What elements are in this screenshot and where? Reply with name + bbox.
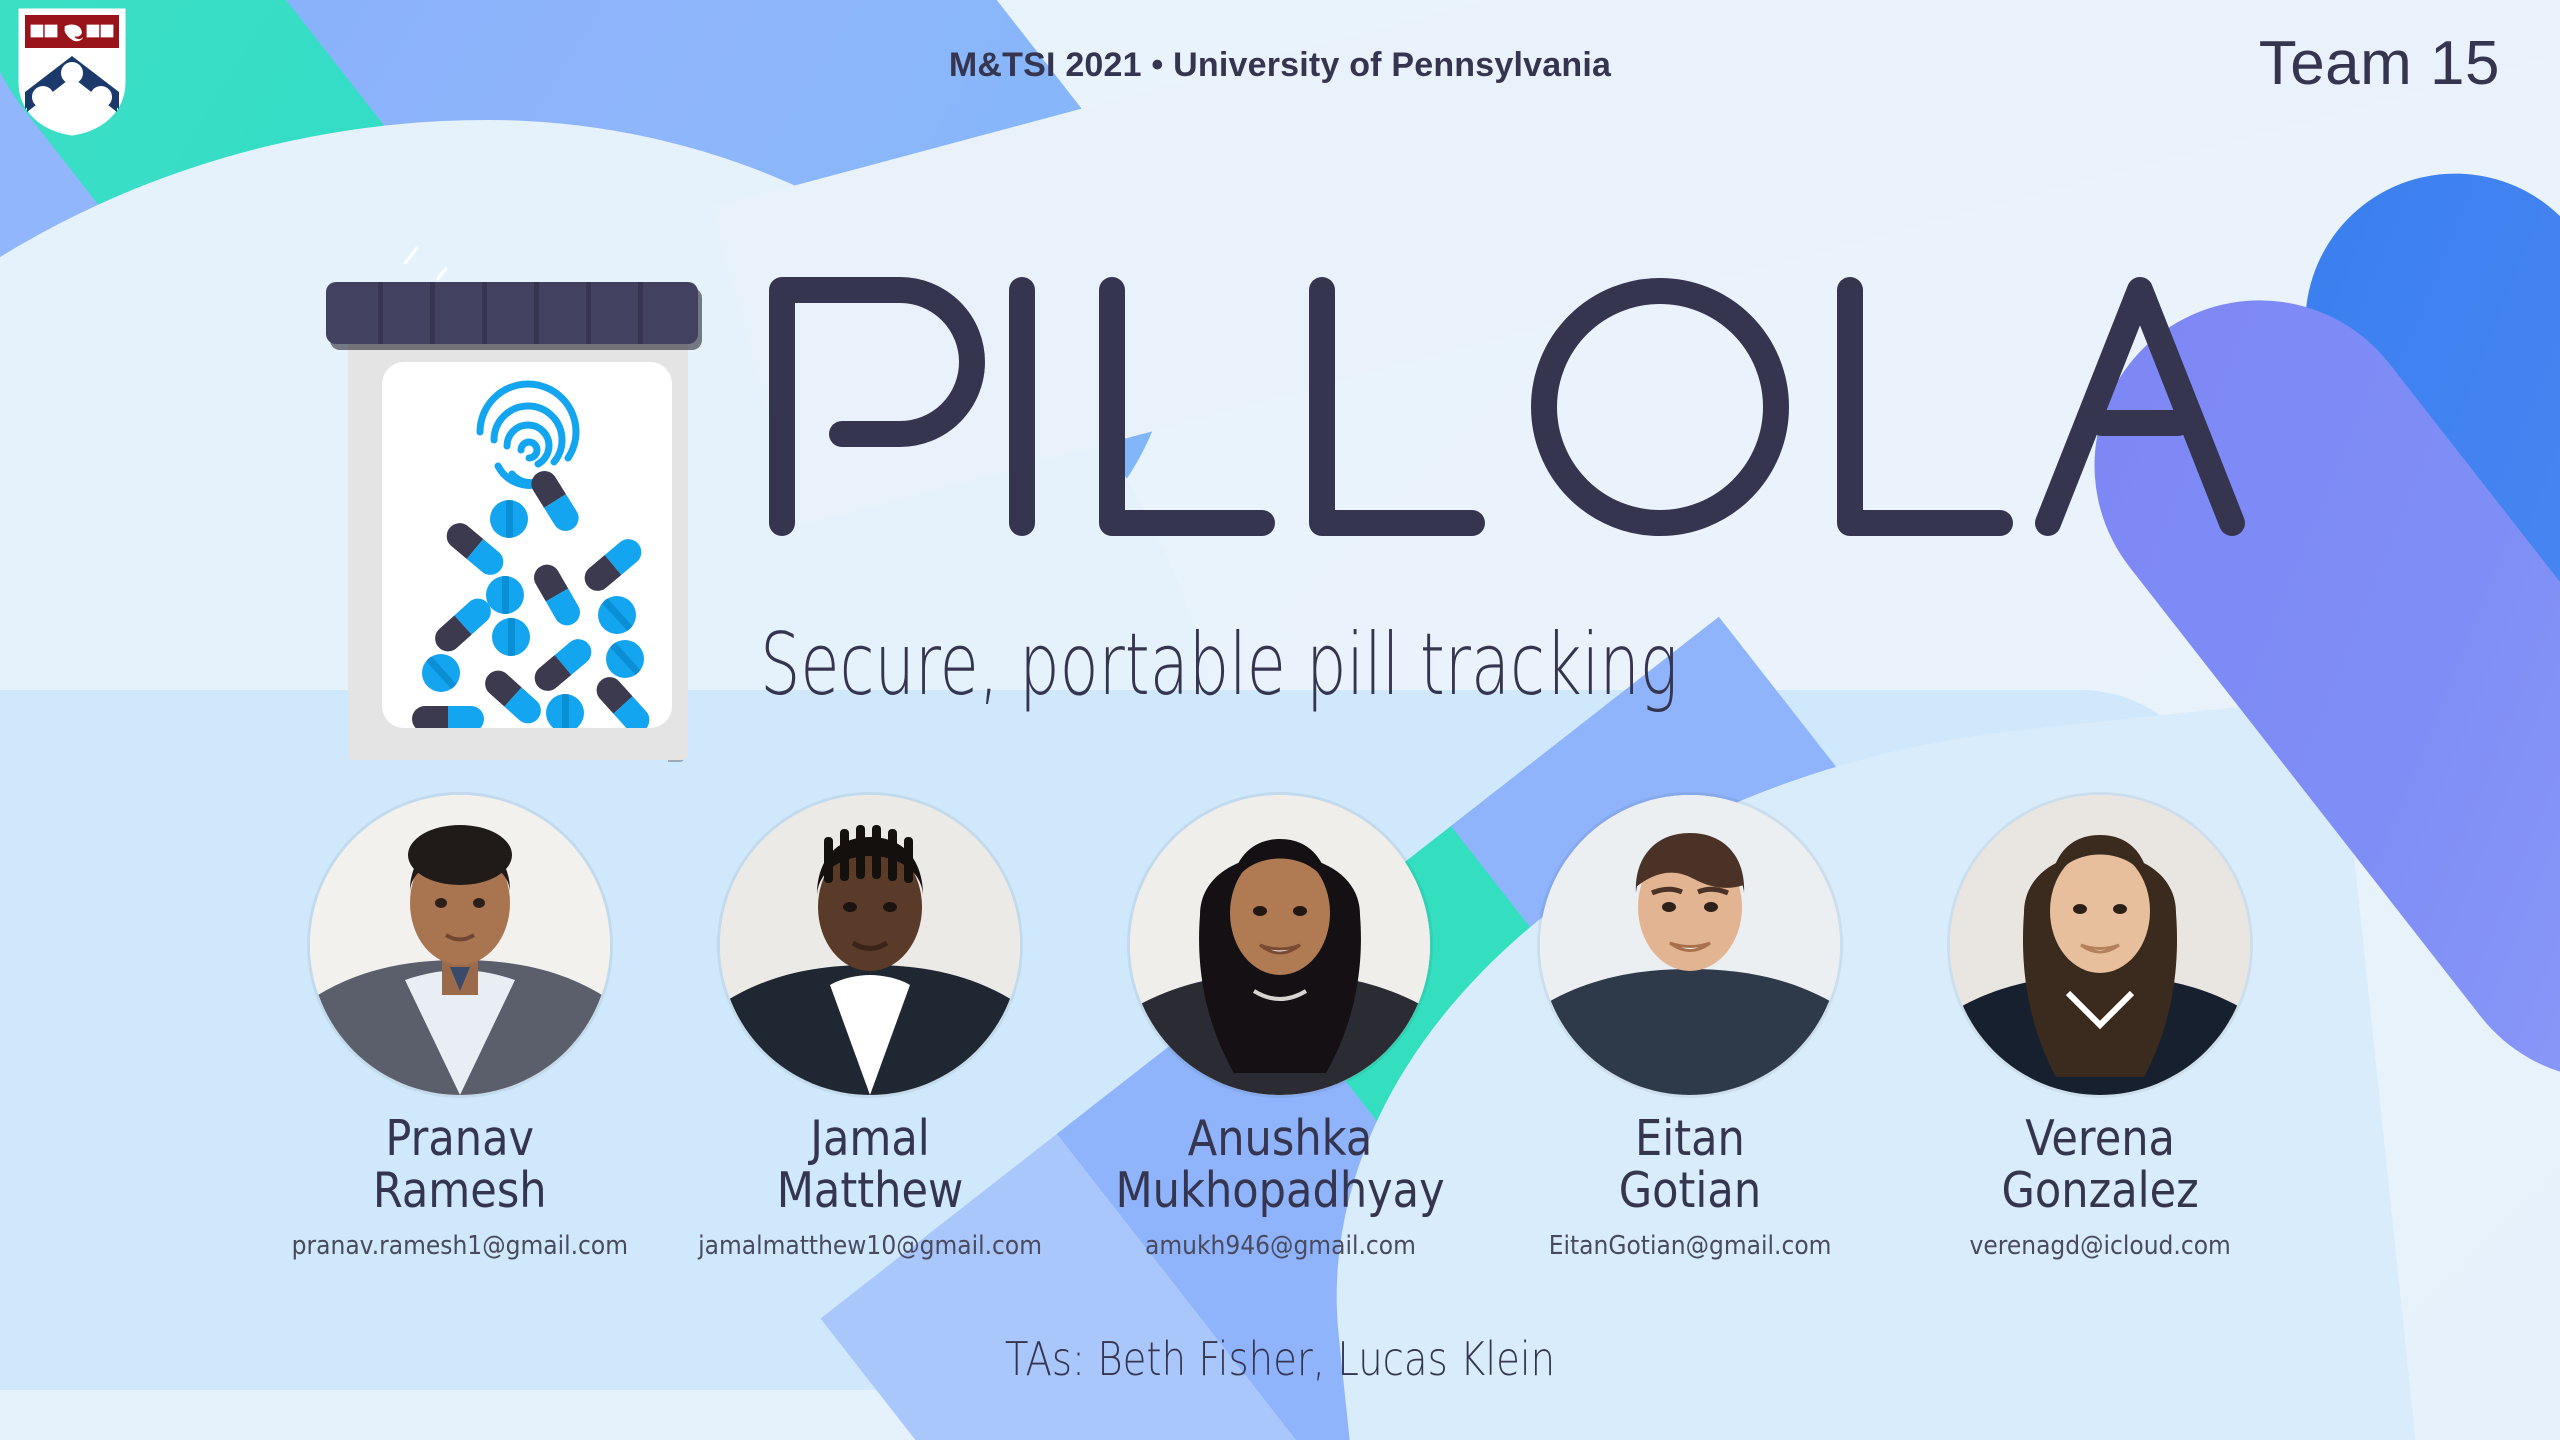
poster-canvas: M&TSI 2021 • University of Pennsylvania … — [0, 0, 2560, 1440]
pill-capsule — [430, 593, 496, 656]
member-name: Pranav Ramesh — [373, 1113, 547, 1217]
product-tagline: Secure, portable pill tracking — [760, 615, 1663, 715]
member-email: amukh946@gmail.com — [1145, 1231, 1416, 1261]
member-name: Verena Gonzalez — [2001, 1113, 2198, 1217]
member-email: EitanGotian@gmail.com — [1549, 1231, 1832, 1261]
pill-capsule — [412, 706, 484, 728]
conference-title: M&TSI 2021 • University of Pennsylvania — [0, 46, 2560, 85]
team-member: Pranav Ramesh pranav.ramesh1@gmail.com — [285, 795, 635, 1261]
member-email: pranav.ramesh1@gmail.com — [292, 1231, 628, 1261]
pill-tablet — [598, 596, 636, 634]
member-name: Anushka Mukhopadhyay — [1115, 1113, 1444, 1217]
team-member: Anushka Mukhopadhyay amukh946@gmail.com — [1105, 795, 1455, 1261]
team-member: Jamal Matthew jamalmatthew10@gmail.com — [695, 795, 1045, 1261]
avatar-verena-gonzalez — [1950, 795, 2250, 1095]
team-member: Eitan Gotian EitanGotian@gmail.com — [1515, 795, 1865, 1261]
bottle-body — [348, 340, 688, 760]
pill-capsule — [579, 534, 646, 596]
pill-tablet — [490, 500, 528, 538]
avatar-pranav-ramesh — [310, 795, 610, 1095]
bottle-label — [382, 362, 672, 728]
pillola-wordmark — [760, 255, 2260, 545]
avatar-eitan-gotian — [1540, 795, 1840, 1095]
pill-tablet — [546, 694, 584, 728]
avatar-anushka-mukhopadhyay — [1130, 795, 1430, 1095]
pill-capsule — [591, 672, 654, 728]
bottle-notch — [350, 530, 376, 564]
pill-capsule — [529, 634, 596, 696]
avatar-jamal-matthew — [720, 795, 1020, 1095]
team-number-label: Team 15 — [2259, 28, 2500, 99]
member-email: jamalmatthew10@gmail.com — [698, 1231, 1042, 1261]
pill-tablet — [606, 640, 644, 678]
sparkle-icon — [436, 266, 448, 280]
pill-capsule — [529, 560, 585, 630]
pill-tablet — [492, 618, 530, 656]
team-members-row: Pranav Ramesh pranav.ramesh1@gmail.com — [0, 795, 2560, 1261]
pill-tablet — [422, 654, 460, 692]
pills-group — [382, 494, 672, 726]
pill-tablet — [486, 576, 524, 614]
teaching-assistants-line: TAs: Beth Fisher, Lucas Klein — [205, 1332, 2355, 1386]
member-name: Eitan Gotian — [1619, 1113, 1761, 1217]
bottle-cap — [326, 282, 698, 344]
team-member: Verena Gonzalez verenagd@icloud.com — [1925, 795, 2275, 1261]
member-name: Jamal Matthew — [777, 1113, 964, 1217]
member-email: verenagd@icloud.com — [1969, 1231, 2230, 1261]
fingerprint-icon — [470, 378, 586, 494]
pill-bottle-illustration — [338, 268, 698, 768]
